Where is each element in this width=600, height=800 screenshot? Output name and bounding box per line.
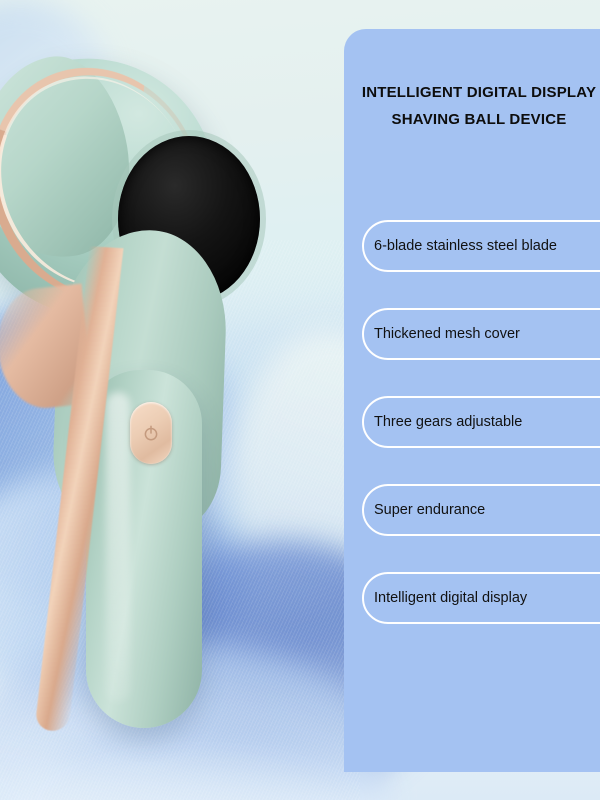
- product-device: [0, 40, 310, 740]
- feature-label: Three gears adjustable: [374, 415, 522, 430]
- feature-label: Super endurance: [374, 503, 485, 518]
- device-highlight: [106, 392, 130, 702]
- panel-title: INTELLIGENT DIGITAL DISPLAY SHAVING BALL…: [294, 79, 600, 133]
- power-icon: [142, 424, 160, 442]
- feature-label: 6-blade stainless steel blade: [374, 239, 557, 254]
- feature-item: Thickened mesh cover: [362, 308, 600, 360]
- feature-item: Super endurance: [362, 484, 600, 536]
- feature-item: 6-blade stainless steel blade: [362, 220, 600, 272]
- panel-title-line-2: SHAVING BALL DEVICE: [294, 106, 600, 133]
- info-panel: INTELLIGENT DIGITAL DISPLAY SHAVING BALL…: [344, 29, 600, 772]
- product-image-canvas: INTELLIGENT DIGITAL DISPLAY SHAVING BALL…: [0, 0, 600, 800]
- feature-item: Intelligent digital display: [362, 572, 600, 624]
- panel-title-line-1: INTELLIGENT DIGITAL DISPLAY: [294, 79, 600, 106]
- feature-item: Three gears adjustable: [362, 396, 600, 448]
- feature-label: Thickened mesh cover: [374, 327, 520, 342]
- feature-label: Intelligent digital display: [374, 591, 527, 606]
- device-power-button[interactable]: [130, 402, 172, 464]
- feature-list: 6-blade stainless steel blade Thickened …: [362, 220, 600, 660]
